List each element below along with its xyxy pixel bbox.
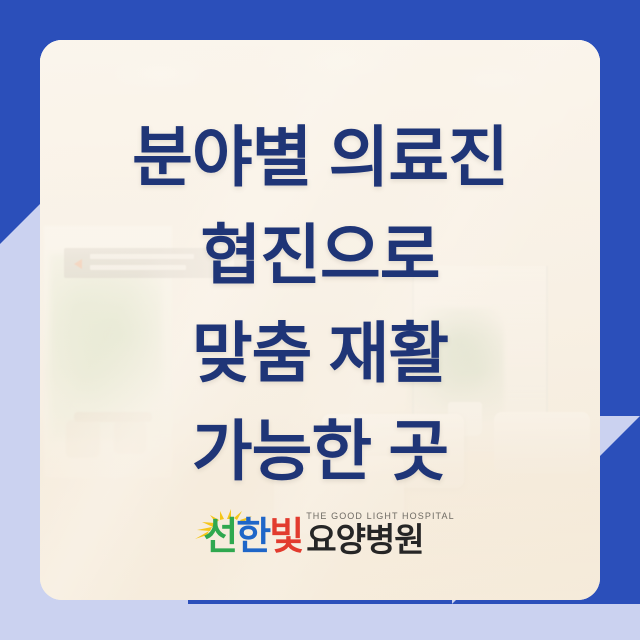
hospital-logo: 선한빛 THE GOOD LIGHT HOSPITAL 요양병원 [40,511,600,556]
brand-tail: THE GOOD LIGHT HOSPITAL 요양병원 [306,511,455,556]
headline: 분야별 의료진 협진으로 맞춤 재활 가능한 곳 [40,108,600,500]
brand-char-1: 선 [203,516,236,558]
poster-canvas: 분야별 의료진 협진으로 맞춤 재활 가능한 곳 [0,0,640,640]
brand-english-tagline: THE GOOD LIGHT HOSPITAL [306,511,455,521]
accent-wedge-bottom-fill [0,604,640,640]
brand-char-2: 한 [236,516,269,558]
headline-line-3: 맞춤 재활 [40,304,600,402]
headline-line-2: 협진으로 [40,206,600,304]
logo-lockup: 선한빛 THE GOOD LIGHT HOSPITAL 요양병원 [185,511,454,556]
brand-char-3: 빛 [269,516,302,558]
headline-line-4: 가능한 곳 [40,402,600,500]
brand-korean: 선한빛 [185,518,302,556]
brand-suffix: 요양병원 [306,523,455,556]
content-card: 분야별 의료진 협진으로 맞춤 재활 가능한 곳 [40,40,600,600]
headline-line-1: 분야별 의료진 [40,108,600,206]
